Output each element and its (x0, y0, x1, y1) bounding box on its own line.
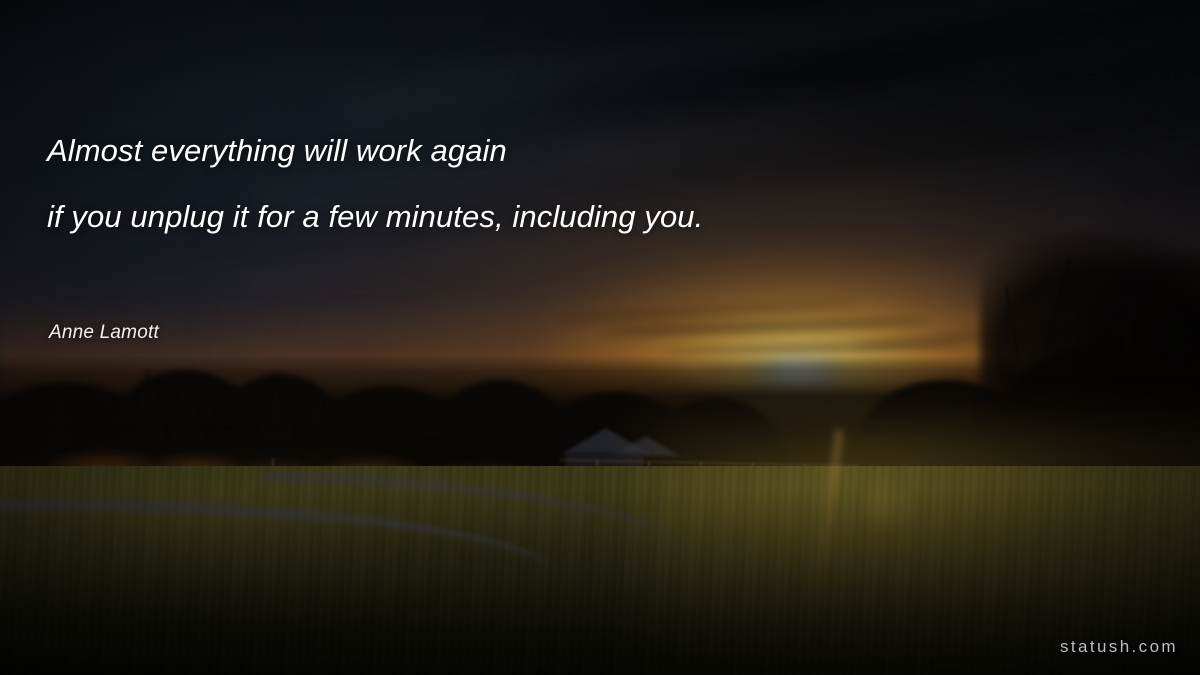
site-watermark: statush.com (1060, 637, 1178, 657)
quote-image-card: Almost everything will work again if you… (0, 0, 1200, 675)
quote-text: Almost everything will work again if you… (47, 118, 1047, 250)
text-overlay: Almost everything will work again if you… (0, 0, 1200, 675)
quote-author: Anne Lamott (49, 322, 159, 344)
